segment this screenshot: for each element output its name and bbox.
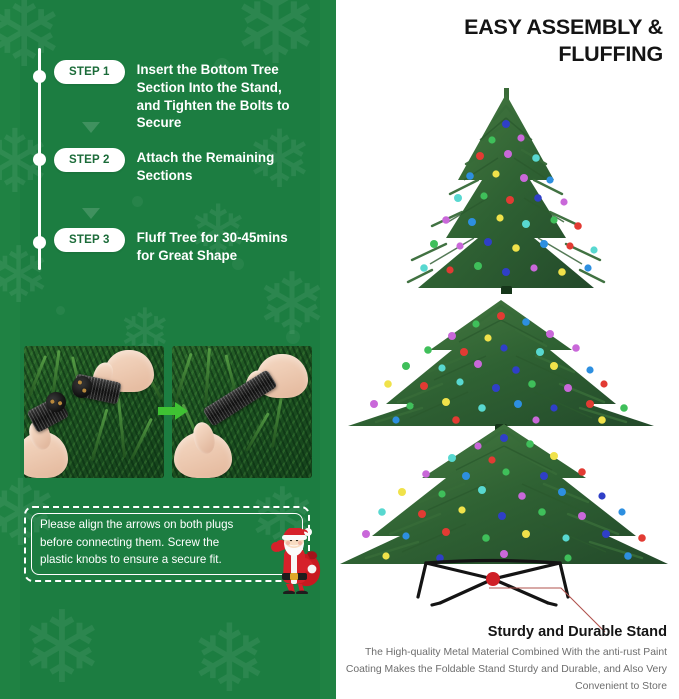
step-text-3: Fluff Tree for 30-45mins for Great Shape xyxy=(137,229,307,265)
plug-pin xyxy=(78,380,83,385)
timeline-dot-step-3 xyxy=(33,236,46,249)
tree-section-top xyxy=(358,88,658,294)
assembly-step-2: STEP 2 Attach the Remaining Sections xyxy=(54,148,307,185)
step-badge-3: STEP 3 xyxy=(54,228,125,252)
chevron-down-icon xyxy=(82,208,100,219)
plug-pin xyxy=(82,388,87,393)
tree-showcase-panel: EASY ASSEMBLY & FLUFFING xyxy=(336,0,679,699)
assembly-step-3: STEP 3 Fluff Tree for 30-45mins for Grea… xyxy=(54,228,307,265)
three-section-prelit-christmas-tree xyxy=(336,0,679,699)
plug-connector-aligned-photo xyxy=(24,346,164,478)
step-badge-2: STEP 2 xyxy=(54,148,125,172)
santa-claus-illustration xyxy=(262,528,324,594)
plug-connection-photos xyxy=(24,346,312,478)
step-badge-1: STEP 1 xyxy=(54,60,125,84)
product-infographic: ❄ ❄ ❄ ❄ ❄ ❄ ❄ ❄ ❄ ❄ ❄ ❄ STEP 1 Inse xyxy=(0,0,679,699)
arrow-right-icon xyxy=(158,402,188,420)
socket-pin xyxy=(50,399,55,404)
tree-section-middle xyxy=(336,300,666,432)
assembly-step-1: STEP 1 Insert the Bottom Tree Section In… xyxy=(54,60,307,132)
socket-pin xyxy=(57,401,62,406)
alignment-note-text: Please align the arrows on both plugs be… xyxy=(40,516,245,569)
plug-connector-joined-photo xyxy=(172,346,312,478)
step-text-1: Insert the Bottom Tree Section Into the … xyxy=(137,61,307,132)
timeline-dot-step-2 xyxy=(33,153,46,166)
tree-section-bottom xyxy=(336,424,672,570)
step-text-2: Attach the Remaining Sections xyxy=(137,149,307,185)
assembly-steps-panel: ❄ ❄ ❄ ❄ ❄ ❄ ❄ ❄ ❄ ❄ ❄ ❄ STEP 1 Inse xyxy=(0,0,336,699)
stand-caption-body: The High-quality Metal Material Combined… xyxy=(345,645,667,696)
timeline-dot-step-1 xyxy=(33,70,46,83)
stand-caption-title: Sturdy and Durable Stand xyxy=(367,624,667,640)
